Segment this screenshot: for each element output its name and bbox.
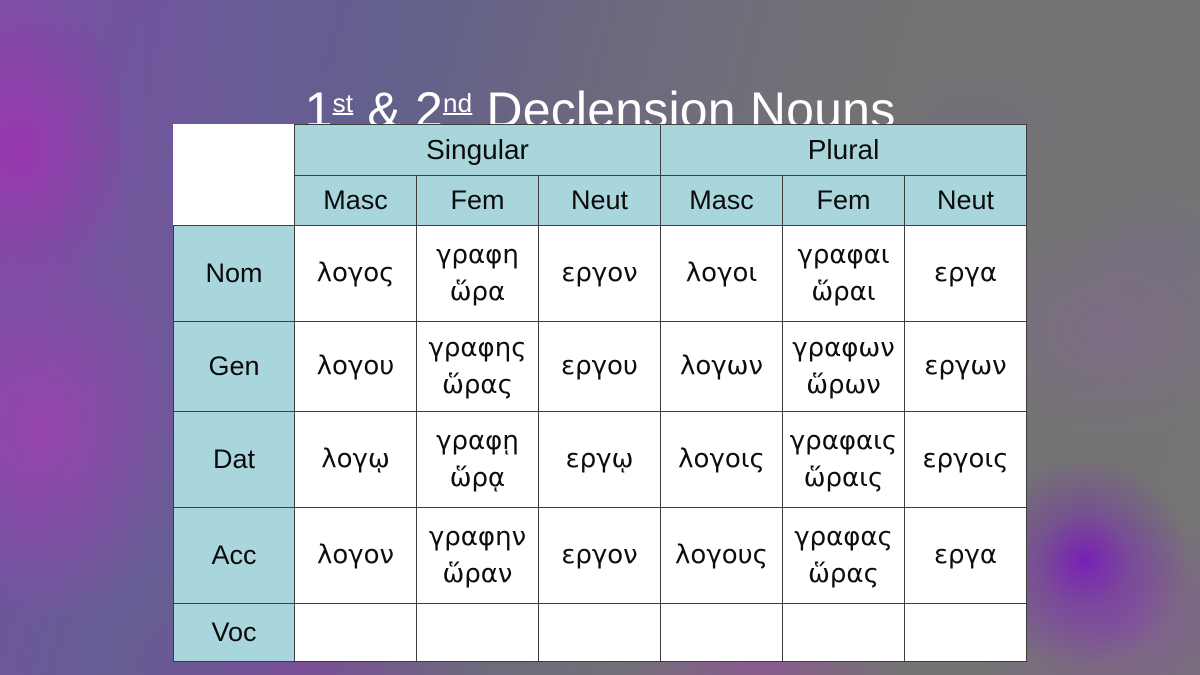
subheader-plural-neut: Neut	[905, 176, 1027, 226]
cell-gen-pl-masc: λογων	[661, 322, 783, 412]
cell-line: ὥραι	[783, 274, 904, 311]
cell-line: γραφῃ	[417, 423, 538, 460]
cell-line: ὥραν	[417, 556, 538, 593]
subheader-singular-neut: Neut	[539, 176, 661, 226]
row-label-voc: Voc	[174, 604, 295, 662]
table-body: Nom λογος γραφηὥρα εργον λογοι γραφαιὥρα…	[174, 226, 1027, 662]
cell-dat-sg-masc: λογῳ	[295, 412, 417, 508]
cell-nom-sg-fem: γραφηὥρα	[417, 226, 539, 322]
group-header-plural: Plural	[661, 125, 1027, 176]
cell-line: γραφας	[783, 519, 904, 556]
table-corner-cell	[174, 125, 295, 176]
row-label-nom: Nom	[174, 226, 295, 322]
cell-line: εργων	[905, 348, 1026, 385]
cell-line: εργα	[905, 537, 1026, 574]
row-label-dat: Dat	[174, 412, 295, 508]
cell-line: λογου	[295, 348, 416, 385]
cell-gen-pl-fem: γραφωνὥρων	[783, 322, 905, 412]
cell-line: λογοι	[661, 255, 782, 292]
row-label-acc: Acc	[174, 508, 295, 604]
cell-line: λογων	[661, 348, 782, 385]
cell-line: ὥρα	[417, 274, 538, 311]
table-group-header-row: Singular Plural	[174, 125, 1027, 176]
table-row: Gen λογου γραφηςὥρας εργου λογων γραφωνὥ…	[174, 322, 1027, 412]
cell-line: λογῳ	[295, 441, 416, 478]
cell-dat-sg-fem: γραφῃὥρᾳ	[417, 412, 539, 508]
cell-gen-sg-neut: εργου	[539, 322, 661, 412]
cell-line: εργον	[539, 537, 660, 574]
cell-acc-sg-neut: εργον	[539, 508, 661, 604]
subheader-singular-masc: Masc	[295, 176, 417, 226]
cell-acc-sg-masc: λογον	[295, 508, 417, 604]
cell-gen-sg-fem: γραφηςὥρας	[417, 322, 539, 412]
cell-acc-pl-fem: γραφαςὥρας	[783, 508, 905, 604]
cell-nom-sg-neut: εργον	[539, 226, 661, 322]
cell-acc-pl-masc: λογους	[661, 508, 783, 604]
cell-acc-pl-neut: εργα	[905, 508, 1027, 604]
row-label-gen: Gen	[174, 322, 295, 412]
table-subheader-row: Masc Fem Neut Masc Fem Neut	[174, 176, 1027, 226]
cell-line: ὥρων	[783, 367, 904, 404]
cell-line: ὥρας	[783, 556, 904, 593]
cell-acc-sg-fem: γραφηνὥραν	[417, 508, 539, 604]
cell-nom-pl-masc: λογοι	[661, 226, 783, 322]
cell-line: ὥρας	[417, 367, 538, 404]
cell-line: εργα	[905, 255, 1026, 292]
cell-line: εργον	[539, 255, 660, 292]
cell-line: εργῳ	[539, 441, 660, 478]
ordinal-suffix-nd: nd	[443, 88, 472, 118]
cell-gen-sg-masc: λογου	[295, 322, 417, 412]
cell-voc-sg-neut	[539, 604, 661, 662]
ordinal-suffix-st: st	[333, 88, 354, 118]
declension-table: Singular Plural Masc Fem Neut Masc Fem N…	[173, 124, 1027, 662]
subheader-plural-fem: Fem	[783, 176, 905, 226]
table-row: Voc	[174, 604, 1027, 662]
cell-line: γραφαις	[783, 423, 904, 460]
cell-line: λογοις	[661, 441, 782, 478]
cell-dat-pl-neut: εργοις	[905, 412, 1027, 508]
group-header-singular: Singular	[295, 125, 661, 176]
cell-line: λογος	[295, 255, 416, 292]
cell-line: γραφης	[417, 330, 538, 367]
cell-dat-pl-masc: λογοις	[661, 412, 783, 508]
cell-line: ὥρᾳ	[417, 460, 538, 497]
cell-dat-pl-fem: γραφαιςὥραις	[783, 412, 905, 508]
cell-voc-sg-masc	[295, 604, 417, 662]
cell-line: γραφων	[783, 330, 904, 367]
cell-voc-sg-fem	[417, 604, 539, 662]
cell-voc-pl-neut	[905, 604, 1027, 662]
cell-line: γραφην	[417, 519, 538, 556]
cell-line: εργοις	[905, 441, 1026, 478]
table-corner-cell-2	[174, 176, 295, 226]
cell-dat-sg-neut: εργῳ	[539, 412, 661, 508]
cell-gen-pl-neut: εργων	[905, 322, 1027, 412]
cell-nom-pl-neut: εργα	[905, 226, 1027, 322]
cell-line: γραφη	[417, 237, 538, 274]
cell-line: λογον	[295, 537, 416, 574]
cell-voc-pl-fem	[783, 604, 905, 662]
subheader-singular-fem: Fem	[417, 176, 539, 226]
cell-nom-pl-fem: γραφαιὥραι	[783, 226, 905, 322]
cell-nom-sg-masc: λογος	[295, 226, 417, 322]
cell-line: γραφαι	[783, 237, 904, 274]
table-row: Acc λογον γραφηνὥραν εργον λογους γραφας…	[174, 508, 1027, 604]
table-row: Nom λογος γραφηὥρα εργον λογοι γραφαιὥρα…	[174, 226, 1027, 322]
cell-line: ὥραις	[783, 460, 904, 497]
subheader-plural-masc: Masc	[661, 176, 783, 226]
cell-line: εργου	[539, 348, 660, 385]
cell-voc-pl-masc	[661, 604, 783, 662]
cell-line: λογους	[661, 537, 782, 574]
table-row: Dat λογῳ γραφῃὥρᾳ εργῳ λογοις γραφαιςὥρα…	[174, 412, 1027, 508]
table-header: Singular Plural Masc Fem Neut Masc Fem N…	[174, 125, 1027, 226]
